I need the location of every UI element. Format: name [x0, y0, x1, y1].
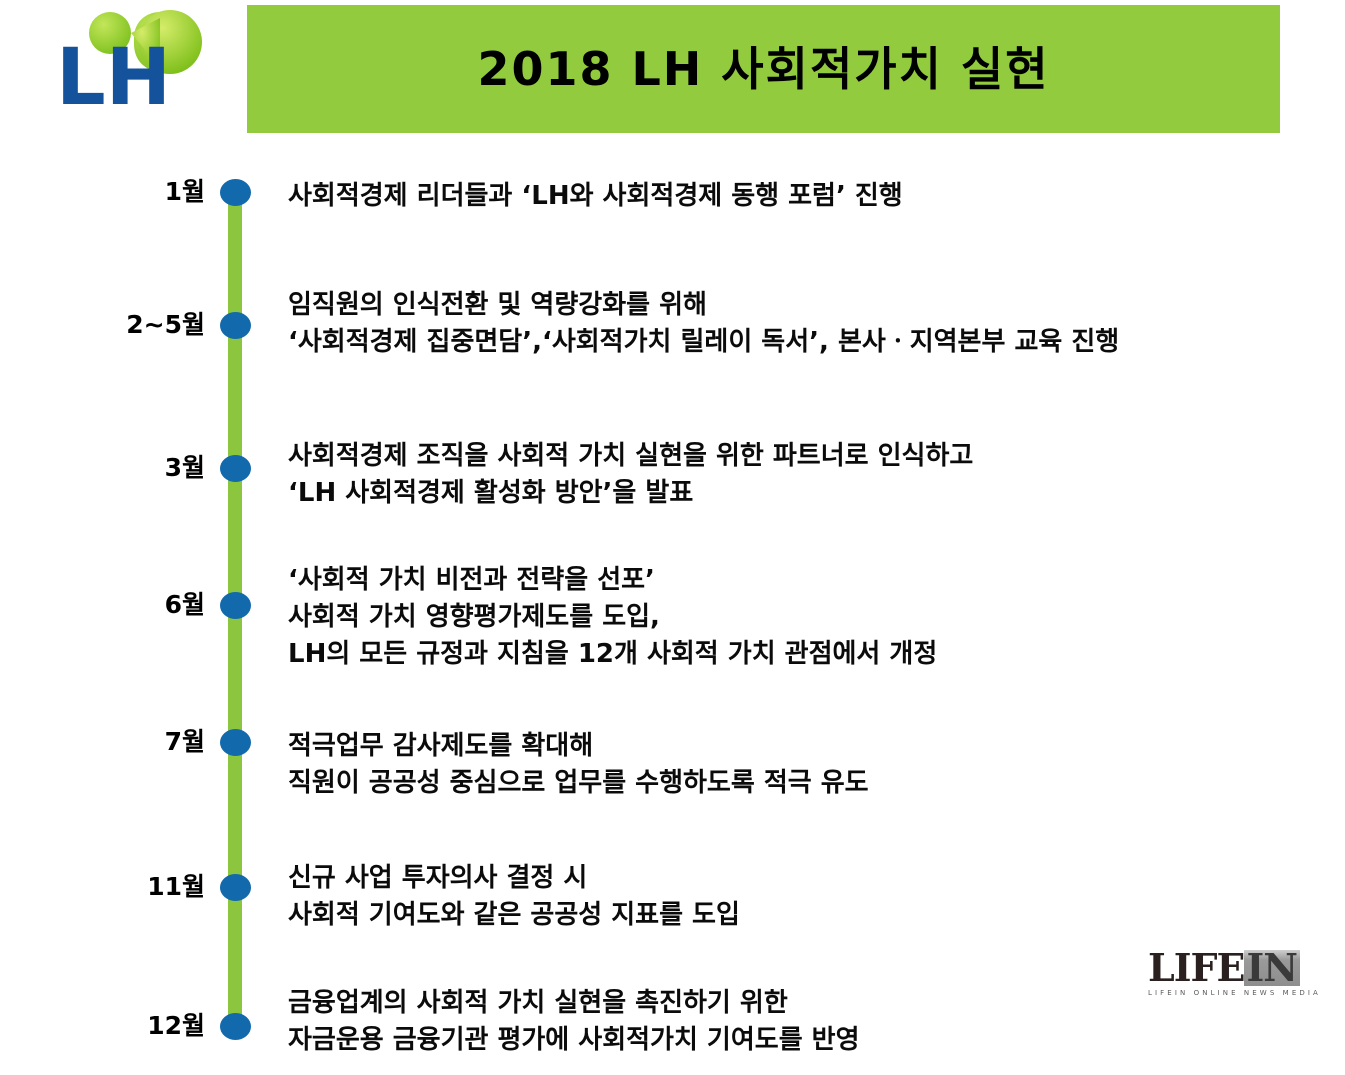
timeline-event-text: 적극업무 감사제도를 확대해직원이 공공성 중심으로 업무를 수행하도록 적극 …	[288, 728, 1338, 802]
timeline-month-label: 6월	[0, 592, 205, 617]
timeline-marker-dot	[220, 179, 251, 206]
timeline-marker-dot	[220, 874, 251, 901]
lh-logo: LH	[48, 6, 218, 116]
timeline-marker-dot	[220, 1013, 251, 1040]
timeline-event-line: ‘사회적 가치 비전과 전략을 선포’	[288, 562, 1338, 599]
lh-logo-letters: LH	[56, 33, 171, 116]
page-header: LH 2018 LH 사회적가치 실현	[0, 0, 1345, 140]
lifein-in-box: IN	[1244, 950, 1300, 986]
timeline-event-line: 사회적경제 리더들과 ‘LH와 사회적경제 동행 포럼’ 진행	[288, 178, 1338, 215]
lifein-in-text: IN	[1246, 950, 1297, 986]
timeline-event-line: ‘LH 사회적경제 활성화 방안’을 발표	[288, 475, 1338, 512]
timeline-event-line: 직원이 공공성 중심으로 업무를 수행하도록 적극 유도	[288, 765, 1338, 802]
lifein-tagline: LIFEIN ONLINE NEWS MEDIA	[1148, 989, 1313, 997]
timeline-event-line: 자금운용 금융기관 평가에 사회적가치 기여도를 반영	[288, 1022, 1338, 1059]
timeline-event-line: 사회적 기여도와 같은 공공성 지표를 도입	[288, 897, 1338, 934]
timeline-event-line: 사회적 가치 영향평가제도를 도입,	[288, 599, 1338, 636]
timeline-event-line: 적극업무 감사제도를 확대해	[288, 728, 1338, 765]
page-title: 2018 LH 사회적가치 실현	[477, 46, 1049, 92]
timeline-month-label: 12월	[0, 1013, 205, 1038]
timeline-event-line: 임직원의 인식전환 및 역량강화를 위해	[288, 287, 1338, 324]
timeline-event-text: 사회적경제 조직을 사회적 가치 실현을 위한 파트너로 인식하고‘LH 사회적…	[288, 438, 1338, 512]
timeline-month-label: 3월	[0, 455, 205, 480]
timeline: 1월사회적경제 리더들과 ‘LH와 사회적경제 동행 포럼’ 진행2~5월임직원…	[0, 140, 1345, 1075]
timeline-month-label: 11월	[0, 874, 205, 899]
lifein-logo: LIFE IN LIFEIN ONLINE NEWS MEDIA	[1148, 950, 1313, 1002]
timeline-event-text: 신규 사업 투자의사 결정 시사회적 기여도와 같은 공공성 지표를 도입	[288, 860, 1338, 934]
timeline-marker-dot	[220, 729, 251, 756]
timeline-event-line: 신규 사업 투자의사 결정 시	[288, 860, 1338, 897]
timeline-month-label: 2~5월	[0, 312, 205, 337]
timeline-event-line: LH의 모든 규정과 지침을 12개 사회적 가치 관점에서 개정	[288, 636, 1338, 673]
timeline-marker-dot	[220, 312, 251, 339]
timeline-event-text: ‘사회적 가치 비전과 전략을 선포’사회적 가치 영향평가제도를 도입,LH의…	[288, 562, 1338, 673]
title-banner: 2018 LH 사회적가치 실현	[247, 5, 1280, 133]
lifein-wordmark: LIFE IN	[1148, 950, 1313, 986]
timeline-marker-dot	[220, 592, 251, 619]
timeline-event-text: 임직원의 인식전환 및 역량강화를 위해‘사회적경제 집중면담’,‘사회적가치 …	[288, 287, 1338, 361]
timeline-event-line: ‘사회적경제 집중면담’,‘사회적가치 릴레이 독서’, 본사ㆍ지역본부 교육 …	[288, 324, 1338, 361]
timeline-event-text: 사회적경제 리더들과 ‘LH와 사회적경제 동행 포럼’ 진행	[288, 178, 1338, 215]
timeline-month-label: 1월	[0, 179, 205, 204]
timeline-event-line: 사회적경제 조직을 사회적 가치 실현을 위한 파트너로 인식하고	[288, 438, 1338, 475]
timeline-marker-dot	[220, 455, 251, 482]
lh-logo-icon: LH	[48, 6, 218, 116]
timeline-month-label: 7월	[0, 729, 205, 754]
lifein-life-text: LIFE	[1148, 950, 1244, 986]
